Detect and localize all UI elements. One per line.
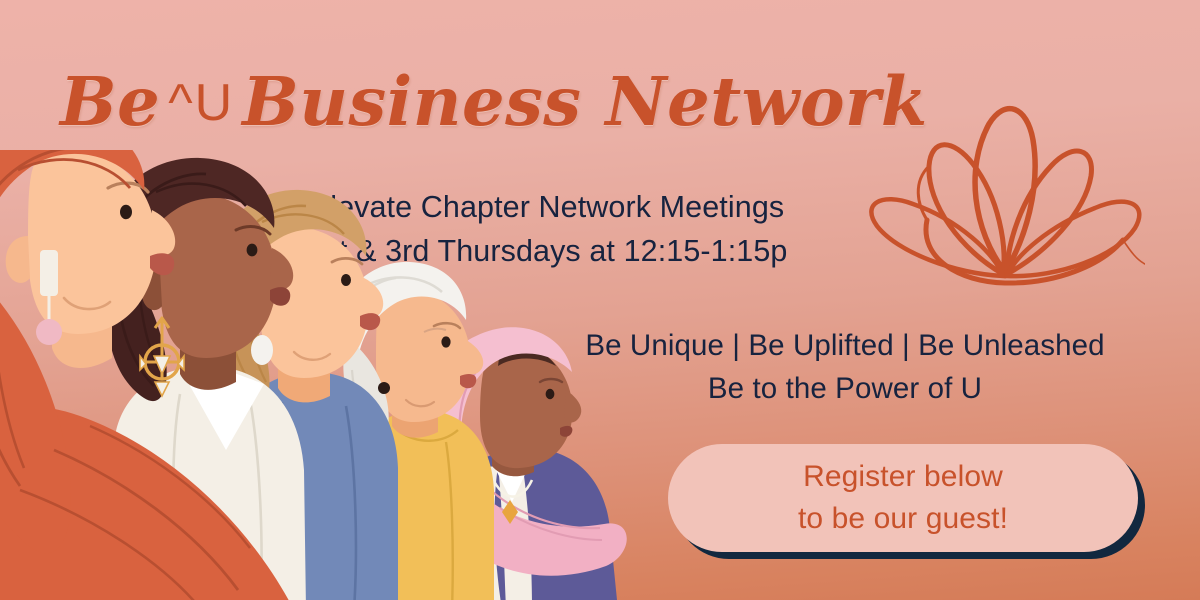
five-diverse-women-profile-illustration — [0, 150, 634, 600]
title-part1: Be — [60, 68, 160, 135]
banner-title: Be ^U Business Network — [60, 58, 880, 144]
event-banner: Be ^U Business Network Elevate Chapter N… — [0, 0, 1200, 600]
register-button[interactable]: Register below to be our guest! — [668, 444, 1138, 552]
register-button-line-1: Register below — [803, 456, 1003, 498]
title-part2: Business Network — [242, 68, 928, 135]
register-button-line-2: to be our guest! — [798, 498, 1008, 540]
title-power-symbol: ^U — [160, 73, 242, 133]
